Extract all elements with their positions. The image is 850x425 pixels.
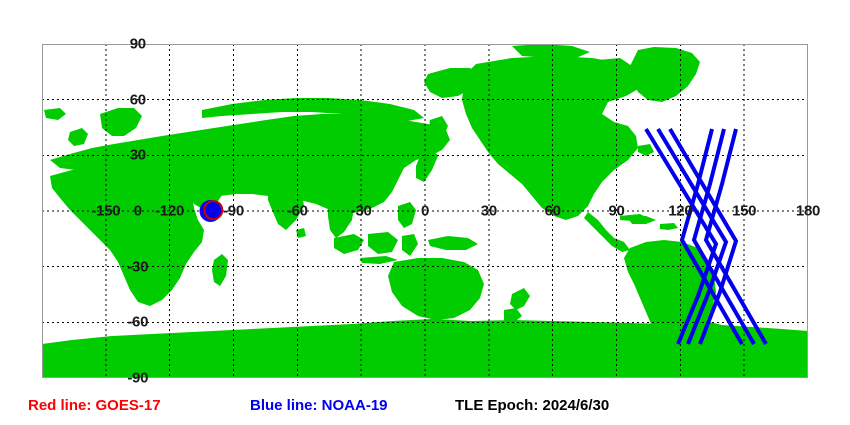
- legend-tle-epoch: TLE Epoch: 2024/6/30: [455, 398, 609, 413]
- lon-tick-60: 60: [545, 204, 561, 219]
- world-map-panel: -300306090120150180-150-120-90-60 906030…: [42, 44, 808, 378]
- lat-tick--60: -60: [127, 315, 148, 330]
- lon-tick-180: 180: [796, 204, 820, 219]
- lat-tick-0: 0: [134, 204, 142, 219]
- lon-tick--30: -30: [351, 204, 372, 219]
- lat-tick-60: 60: [130, 92, 146, 107]
- lon-tick-90: 90: [608, 204, 624, 219]
- lat-tick-90: 90: [130, 37, 146, 52]
- lon-tick--120: -120: [155, 204, 184, 219]
- lon-tick--150: -150: [91, 204, 120, 219]
- legend-goes17: Red line: GOES-17: [28, 398, 161, 413]
- legend-noaa19: Blue line: NOAA-19: [250, 398, 388, 413]
- lon-tick-0: 0: [421, 204, 429, 219]
- lat-tick-30: 30: [130, 148, 146, 163]
- legend-bar: Red line: GOES-17 Blue line: NOAA-19 TLE…: [0, 396, 850, 420]
- lon-tick-30: 30: [481, 204, 497, 219]
- lon-tick--60: -60: [287, 204, 308, 219]
- satellite-ground-track-view: -300306090120150180-150-120-90-60 906030…: [0, 0, 850, 425]
- lon-tick-120: 120: [668, 204, 692, 219]
- lon-tick-150: 150: [732, 204, 756, 219]
- lat-tick--30: -30: [127, 259, 148, 274]
- lat-tick--90: -90: [127, 371, 148, 386]
- lon-tick--90: -90: [223, 204, 244, 219]
